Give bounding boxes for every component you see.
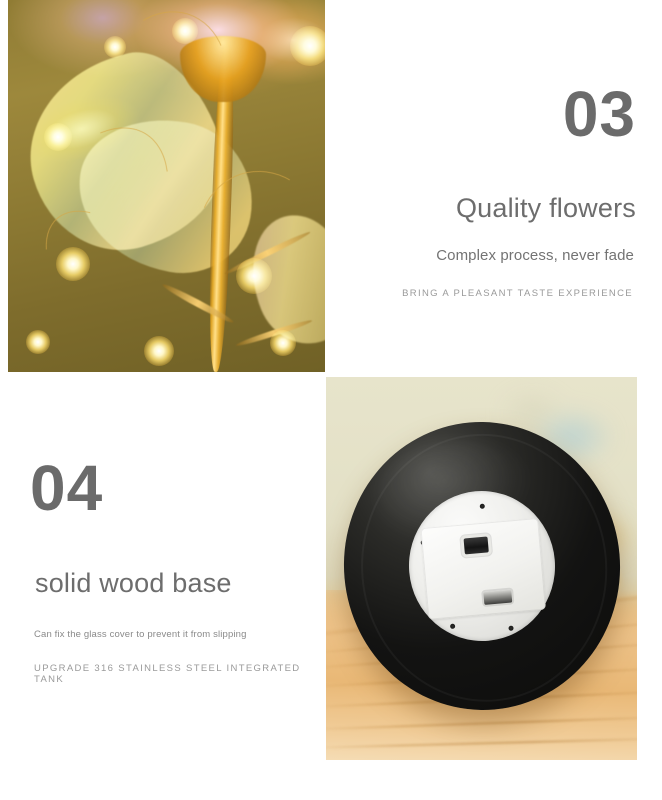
screw-icon [480,504,485,509]
screw-icon [450,624,455,629]
feature-section-04: 04 solid wood base Can fix the glass cov… [0,378,326,800]
led-bulb [290,26,325,66]
led-bulb [270,330,296,356]
led-bulb [172,18,198,44]
led-bulb [26,330,50,354]
led-bulb [44,123,72,151]
product-detail-page: 03 Quality flowers Complex process, neve… [0,0,662,800]
golden-glass-rose-photo [8,0,325,372]
section-caption-04: UPGRADE 316 STAINLESS STEEL INTEGRATED T… [34,663,326,685]
power-switch-icon [483,590,512,605]
usb-port-icon [464,536,489,554]
led-bulb [236,258,272,294]
led-bulb [56,247,90,281]
section-subtitle-04: Can fix the glass cover to prevent it fr… [34,629,247,640]
section-title-03: Quality flowers [333,193,636,224]
battery-compartment-door [420,518,546,620]
section-number-03: 03 [563,82,636,146]
section-subtitle-03: Complex process, never fade [333,247,634,264]
screw-icon [508,625,513,630]
section-number-04: 04 [30,456,103,520]
led-bulb [104,36,126,58]
section-title-04: solid wood base [35,568,232,599]
section-caption-03: BRING A PLEASANT TASTE EXPERIENCE [333,288,633,299]
rose-photo-content [8,0,325,372]
feature-section-03: 03 Quality flowers Complex process, neve… [333,0,662,372]
black-lamp-base-photo [326,377,637,760]
led-bulb [144,336,174,366]
